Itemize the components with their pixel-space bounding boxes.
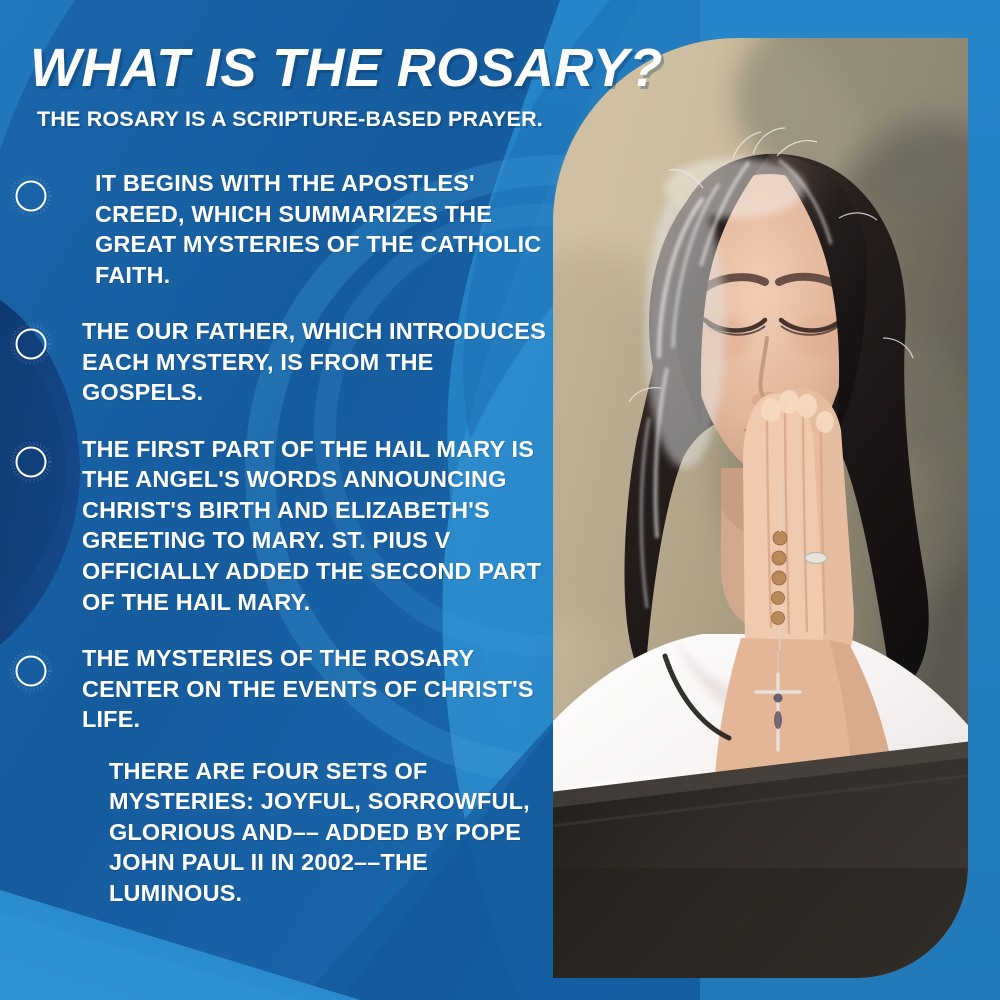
list-item: THE MYSTERIES OF THE ROSARY CENTER ON TH…: [0, 643, 560, 908]
page-subtitle: THE ROSARY IS A SCRIPTURE-BASED PRAYER.: [37, 107, 620, 132]
ring-bullet-icon: [0, 434, 62, 484]
list-item: THE FIRST PART OF THE HAIL MARY IS THE A…: [0, 434, 560, 617]
list-item-text: IT BEGINS WITH THE APOSTLES' CREED, WHIC…: [62, 168, 560, 290]
ring-bullet-icon: [0, 168, 62, 218]
list-item-text: THE FIRST PART OF THE HAIL MARY IS THE A…: [62, 434, 560, 617]
praying-woman-photo: [553, 38, 968, 978]
ring-bullet-icon: [0, 316, 62, 366]
bullet-list: IT BEGINS WITH THE APOSTLES' CREED, WHIC…: [0, 168, 560, 934]
headline-block: WHAT IS THE ROSARY? THE ROSARY IS A SCRI…: [30, 40, 620, 132]
ring-bullet-icon: [0, 643, 62, 693]
page-title: WHAT IS THE ROSARY?: [30, 40, 620, 97]
list-item-subtext: THERE ARE FOUR SETS OF MYSTERIES: JOYFUL…: [62, 756, 560, 909]
list-item-text: THE OUR FATHER, WHICH INTRODUCES EACH MY…: [62, 316, 560, 408]
list-item-text: THE MYSTERIES OF THE ROSARY CENTER ON TH…: [62, 643, 560, 735]
list-item: THE OUR FATHER, WHICH INTRODUCES EACH MY…: [0, 316, 560, 408]
rosary-infographic-poster: WHAT IS THE ROSARY? THE ROSARY IS A SCRI…: [0, 0, 1000, 1000]
list-item: IT BEGINS WITH THE APOSTLES' CREED, WHIC…: [0, 168, 560, 290]
